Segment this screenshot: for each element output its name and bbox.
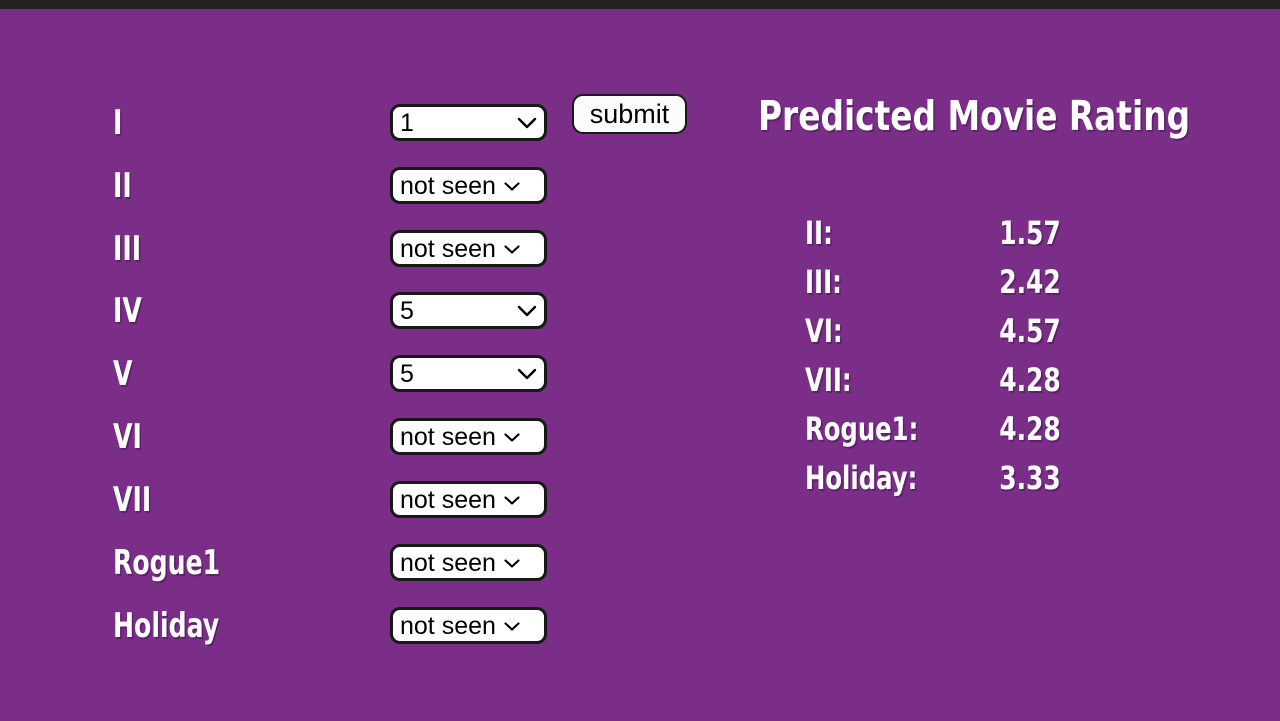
chevron-down-icon (502, 179, 522, 193)
submit-button[interactable]: submit (572, 94, 687, 134)
rating-select-value: 1 (400, 109, 511, 137)
movie-rating-form: I 1 II not seen (0, 9, 720, 721)
movie-label: IV (113, 280, 142, 342)
movie-label: III (113, 218, 141, 280)
form-row: III not seen (0, 218, 720, 280)
rating-select-value: 5 (400, 360, 511, 388)
predicted-ratings-panel: Predicted Movie Rating II: 1.57 III: 2.4… (720, 9, 1280, 721)
chevron-down-icon (502, 619, 522, 633)
form-row: VII not seen (0, 469, 720, 531)
result-rating-value: 3.33 (979, 454, 1080, 502)
rating-select-value: not seen (400, 172, 496, 200)
rating-select-holiday[interactable]: not seen (390, 607, 547, 644)
result-movie-name: VII: (805, 356, 852, 404)
chevron-down-icon (502, 430, 522, 444)
movie-label: Holiday (113, 595, 219, 657)
rating-select-value: not seen (400, 486, 496, 514)
rating-select-vi[interactable]: not seen (390, 418, 547, 455)
result-rating-value: 4.28 (979, 356, 1080, 404)
rating-select-rogue1[interactable]: not seen (390, 544, 547, 581)
browser-chrome-bar (0, 0, 1280, 9)
rating-select-value: 5 (400, 297, 511, 325)
page-title: Predicted Movie Rating (758, 92, 1190, 140)
chevron-down-icon (517, 304, 537, 318)
movie-label: Rogue1 (113, 532, 220, 594)
rating-select-ii[interactable]: not seen (390, 167, 547, 204)
rating-select-vii[interactable]: not seen (390, 481, 547, 518)
result-movie-name: III: (805, 258, 842, 306)
form-row: II not seen (0, 155, 720, 217)
result-row: VI: 4.57 (720, 307, 1280, 355)
result-row: Holiday: 3.33 (720, 454, 1280, 502)
result-row: Rogue1: 4.28 (720, 405, 1280, 453)
movie-label: V (113, 343, 132, 405)
movie-label: I (113, 92, 122, 154)
movie-label: VI (113, 406, 142, 468)
rating-select-value: not seen (400, 423, 496, 451)
form-row: Rogue1 not seen (0, 532, 720, 594)
chevron-down-icon (502, 493, 522, 507)
chevron-down-icon (502, 556, 522, 570)
result-row: III: 2.42 (720, 258, 1280, 306)
form-row: Holiday not seen (0, 595, 720, 657)
rating-select-value: not seen (400, 612, 496, 640)
result-movie-name: II: (805, 209, 833, 257)
result-movie-name: Holiday: (805, 454, 917, 502)
rating-select-i[interactable]: 1 (390, 104, 547, 141)
movie-label: II (113, 155, 132, 217)
form-row: VI not seen (0, 406, 720, 468)
result-rating-value: 4.57 (979, 307, 1080, 355)
result-rating-value: 2.42 (979, 258, 1080, 306)
form-row: IV 5 (0, 280, 720, 342)
app-root: I 1 II not seen (0, 0, 1280, 721)
result-movie-name: VI: (805, 307, 843, 355)
chevron-down-icon (502, 242, 522, 256)
chevron-down-icon (517, 116, 537, 130)
movie-label: VII (113, 469, 151, 531)
result-row: II: 1.57 (720, 209, 1280, 257)
result-row: VII: 4.28 (720, 356, 1280, 404)
rating-select-value: not seen (400, 235, 496, 263)
result-rating-value: 4.28 (979, 405, 1080, 453)
page-body: I 1 II not seen (0, 9, 1280, 721)
result-movie-name: Rogue1: (805, 405, 918, 453)
form-row: V 5 (0, 343, 720, 405)
result-rating-value: 1.57 (979, 209, 1080, 257)
rating-select-iv[interactable]: 5 (390, 292, 547, 329)
rating-select-iii[interactable]: not seen (390, 230, 547, 267)
rating-select-value: not seen (400, 549, 496, 577)
rating-select-v[interactable]: 5 (390, 355, 547, 392)
chevron-down-icon (517, 367, 537, 381)
